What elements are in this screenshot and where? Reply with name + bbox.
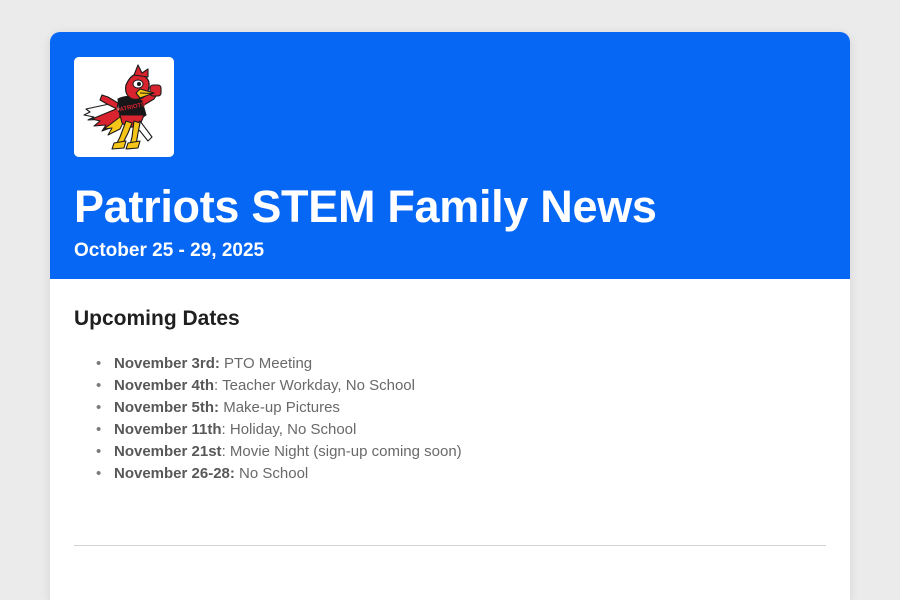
date-description: Make-up Pictures (219, 399, 340, 416)
list-item: •November 4th: Teacher Workday, No Schoo… (92, 375, 826, 397)
school-logo: PATRIOTS (74, 57, 174, 157)
card-header: PATRIOTS (50, 32, 850, 279)
upcoming-dates-list: •November 3rd: PTO Meeting •November 4th… (74, 353, 826, 485)
bullet-icon: • (96, 441, 101, 463)
page-background: PATRIOTS (0, 0, 900, 600)
cardinal-mascot-icon: PATRIOTS (74, 57, 174, 157)
date-label: November 5th: (114, 399, 219, 416)
date-label: November 11th (114, 421, 222, 438)
date-description: : Teacher Workday, No School (214, 377, 415, 394)
newsletter-card: PATRIOTS (50, 32, 850, 600)
list-item: •November 11th: Holiday, No School (92, 419, 826, 441)
bullet-icon: • (96, 397, 101, 419)
date-range-subtitle: October 25 - 29, 2025 (74, 240, 826, 262)
bullet-icon: • (96, 353, 101, 375)
date-description: PTO Meeting (220, 355, 312, 372)
date-description: No School (235, 465, 308, 482)
section-heading-upcoming-dates: Upcoming Dates (74, 307, 826, 331)
date-label: November 4th (114, 377, 214, 394)
date-description: : Movie Night (sign-up coming soon) (222, 443, 462, 460)
date-description: : Holiday, No School (222, 421, 357, 438)
below-divider-spacer (74, 546, 826, 586)
date-label: November 3rd: (114, 355, 220, 372)
page-title: Patriots STEM Family News (74, 183, 826, 230)
bullet-icon: • (96, 463, 101, 485)
list-item: •November 26-28: No School (92, 463, 826, 485)
bullet-icon: • (96, 375, 101, 397)
content-spacer (74, 485, 826, 545)
list-item: •November 3rd: PTO Meeting (92, 353, 826, 375)
date-label: November 21st (114, 443, 222, 460)
list-item: •November 21st: Movie Night (sign-up com… (92, 441, 826, 463)
card-body: Upcoming Dates •November 3rd: PTO Meetin… (50, 279, 850, 586)
bullet-icon: • (96, 419, 101, 441)
list-item: •November 5th: Make-up Pictures (92, 397, 826, 419)
date-label: November 26-28: (114, 465, 235, 482)
